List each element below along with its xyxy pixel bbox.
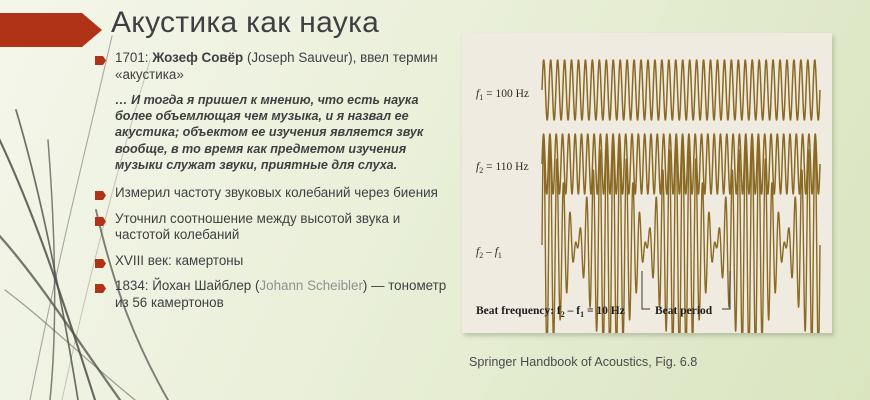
figure-label-beat-frequency: Beat frequency: f2 – f1 = 10 Hz [476,305,625,319]
bullet-pennant-icon [95,284,106,293]
bullet-pennant-icon [95,259,106,268]
list-item: Уточнил соотношение между высотой звука … [95,211,455,244]
list-item-label: 1834: Йохан Шайблер (Johann Scheibler) —… [115,278,455,311]
figure-label-beat-period: Beat period [655,305,713,317]
bullet-pennant-icon [95,217,106,226]
bullet-seg-year: 1834: Йохан Шайблер ( [115,278,259,293]
figure-panel: f1 = 100 Hz f2 = 110 Hz f2 – f1 [462,33,832,333]
list-item: 1834: Йохан Шайблер (Johann Scheibler) —… [95,278,455,311]
list-item-label: Измерил частоту звуковых колебаний через… [115,185,438,202]
list-item: Измерил частоту звуковых колебаний через… [95,185,455,202]
list-item-label: XVIII век: камертоны [115,253,243,270]
list-item: 1701: Жозеф Совёр (Joseph Sauveur), ввел… [95,50,455,83]
bullet-seg-year: 1701: [115,50,152,65]
list-item: XVIII век: камертоны [95,253,455,270]
bullet-pennant-icon [95,191,106,200]
content-column: 1701: Жозеф Совёр (Joseph Sauveur), ввел… [95,50,455,320]
figure-label-f2: f2 = 110 Hz [476,161,529,175]
figure-label-f1: f1 = 100 Hz [476,88,529,102]
list-item-label: 1701: Жозеф Совёр (Joseph Sauveur), ввел… [115,50,455,83]
beats-waveform-figure: f1 = 100 Hz f2 = 110 Hz f2 – f1 [462,33,832,333]
beat-period-bracket [642,271,730,309]
page-title: Акустика как наука [111,6,379,40]
bullet-seg-name-ru: Жозеф Совёр [152,50,243,65]
bullet-seg-name-en: Johann Scheibler [259,278,362,293]
waveform-f1 [542,60,820,120]
title-banner-arrow-icon [0,13,102,47]
figure-caption: Springer Handbook of Acoustics, Fig. 6.8 [469,355,697,369]
list-item-label: Уточнил соотношение между высотой звука … [115,211,455,244]
bullet-pennant-icon [95,56,106,65]
figure-label-diff: f2 – f1 [476,246,502,260]
quote-block: … И тогда я пришел к мнению, что есть на… [115,92,445,173]
slide: Акустика как наука 1701: Жозеф Совёр (Jo… [0,0,870,400]
